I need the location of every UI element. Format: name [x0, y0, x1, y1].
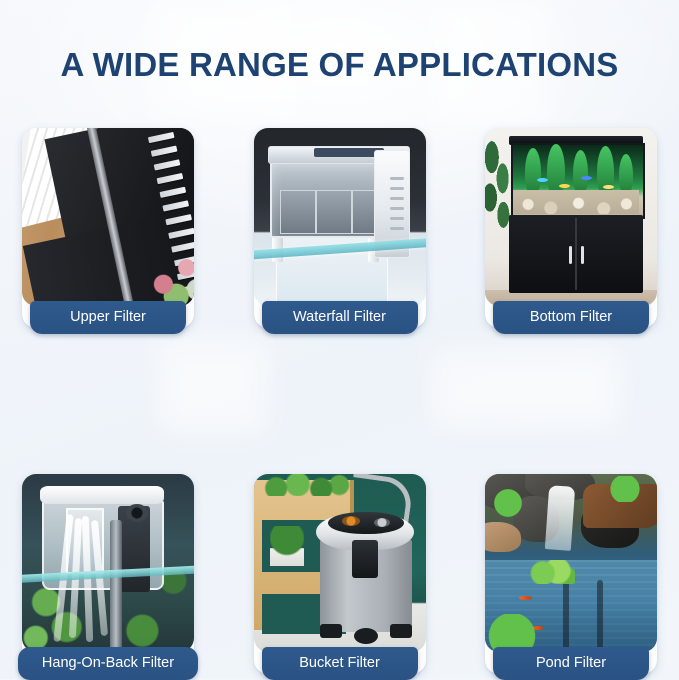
card-image-pond-filter [485, 474, 657, 652]
card-label-bucket-filter: Bucket Filter [262, 647, 418, 680]
fish [581, 176, 592, 180]
card-row-top: Upper Filter [0, 128, 679, 328]
pond-plant [605, 476, 645, 502]
shelf-plants [260, 474, 350, 496]
card-bottom-filter[interactable]: Bottom Filter [485, 128, 657, 328]
potted-plant [270, 526, 304, 566]
water-reflection [563, 574, 569, 652]
card-image-bucket-filter [254, 474, 426, 652]
cabinet-door-split [575, 218, 577, 290]
koi-fish [519, 596, 532, 600]
aquatic-plant [525, 148, 541, 196]
card-label-hang-on-back-filter: Hang-On-Back Filter [18, 647, 198, 680]
cabinet-handle [569, 246, 572, 264]
waterfall-filter-illustration [254, 128, 426, 306]
card-bucket-filter[interactable]: Bucket Filter [254, 474, 426, 674]
primer-dial [342, 516, 360, 526]
water-reflection [597, 580, 603, 652]
card-label-waterfall-filter: Waterfall Filter [262, 301, 418, 334]
canister-foot [354, 628, 378, 644]
fish [559, 184, 570, 188]
fish [603, 185, 614, 189]
water-lily [529, 560, 575, 584]
card-hang-on-back-filter[interactable]: Hang-On-Back Filter [22, 474, 194, 674]
plant-decor [146, 238, 194, 304]
applications-poster: A WIDE RANGE OF APPLICATIONS [0, 0, 679, 679]
intake-pipe [110, 520, 122, 652]
bucket-filter-illustration [254, 474, 426, 652]
canister-latch [352, 540, 378, 578]
outflow-nozzle [126, 504, 148, 522]
stone-ledge [485, 522, 521, 552]
application-card-grid: Upper Filter [0, 128, 679, 674]
fish [537, 178, 548, 182]
card-label-pond-filter: Pond Filter [493, 647, 649, 680]
card-image-upper-filter [22, 128, 194, 306]
pond-filter-illustration [485, 474, 657, 652]
canister-lid [328, 512, 404, 534]
card-image-hang-on-back-filter [22, 474, 194, 652]
card-upper-filter[interactable]: Upper Filter [22, 128, 194, 328]
cabinet-handle [581, 246, 584, 264]
hang-on-back-filter-illustration [22, 474, 194, 652]
waterfall-stream [545, 485, 575, 551]
upper-filter-illustration [22, 128, 194, 306]
pond-plant [491, 488, 525, 518]
card-pond-filter[interactable]: Pond Filter [485, 474, 657, 674]
page-title: A WIDE RANGE OF APPLICATIONS [0, 44, 679, 86]
canister-foot [320, 624, 342, 638]
card-image-bottom-filter [485, 128, 657, 306]
card-image-waterfall-filter [254, 128, 426, 306]
media-chamber [280, 190, 316, 234]
media-chamber [316, 190, 352, 234]
control-dial [374, 518, 390, 527]
canister-foot [390, 624, 412, 638]
gravel-substrate [513, 190, 639, 214]
card-label-bottom-filter: Bottom Filter [493, 301, 649, 334]
bottom-filter-illustration [485, 128, 657, 306]
card-waterfall-filter[interactable]: Waterfall Filter [254, 128, 426, 328]
filter-lid [40, 486, 164, 504]
card-label-upper-filter: Upper Filter [30, 301, 186, 334]
card-row-bottom: Hang-On-Back Filter [0, 474, 679, 674]
